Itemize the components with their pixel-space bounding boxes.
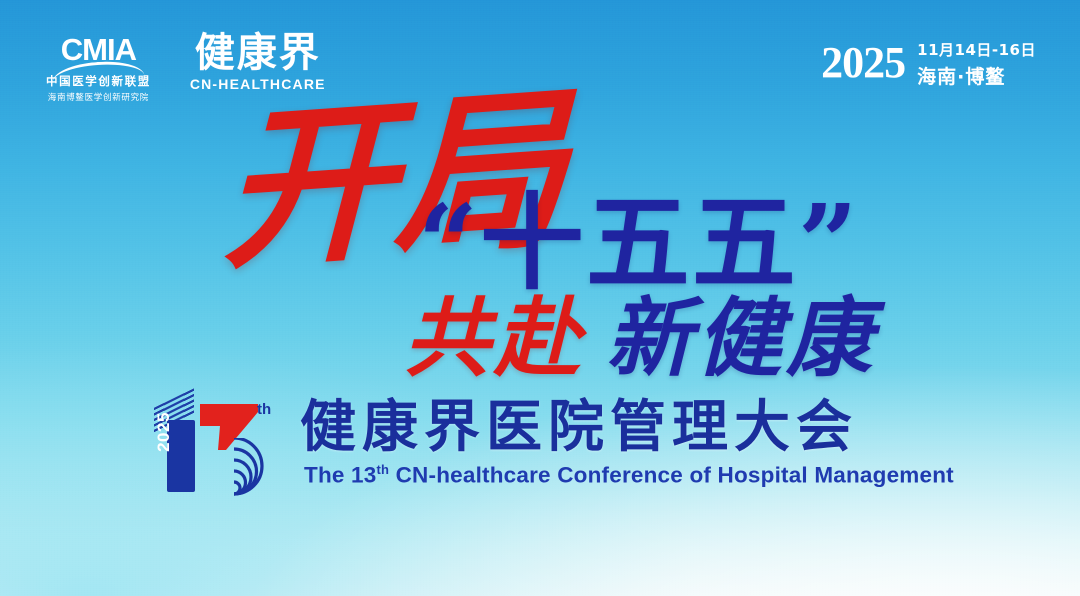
slogan-line2-blue: 新健康: [606, 288, 876, 389]
conference-title-en-ordinal: th: [376, 462, 389, 477]
event-location: 海南·博鳌: [917, 62, 1036, 89]
cmia-subtitle-institute: 海南博鳌医学创新研究院: [48, 91, 149, 103]
slogan-calligraphy: 开局 “十五五” 共赴新健康: [0, 150, 1080, 365]
cmia-swoosh-icon: [52, 62, 144, 70]
event-meta-group: 2025 11月14日-16日 海南·博鳌: [821, 36, 1036, 89]
numeral-three-rings-icon: [196, 438, 272, 496]
cmia-logo: CMIA 中国医学创新联盟 海南博鳌医学创新研究院: [46, 32, 151, 103]
cmia-wordmark: CMIA: [61, 34, 136, 65]
conference-title-en-prefix: The 13: [304, 463, 376, 488]
event-date: 11月14日-16日: [917, 39, 1036, 60]
conference-poster: CMIA 中国医学创新联盟 海南博鳌医学创新研究院 健康界 CN-HEALTHC…: [0, 0, 1080, 596]
event-date-place-stack: 11月14日-16日 海南·博鳌: [917, 36, 1036, 89]
cn-healthcare-name-cn: 健康界: [195, 32, 321, 74]
edition-logo-year: 2025: [154, 399, 174, 465]
logo-divider: [167, 38, 168, 90]
conference-title-lockup: 2025 th 健康界医院管理大会 The 13th CN-healthcare…: [150, 396, 954, 494]
slogan-line2: 共赴新健康: [404, 268, 876, 393]
event-year: 2025: [821, 41, 905, 85]
conference-title-cn: 健康界医院管理大会: [300, 398, 954, 458]
slogan-line2-red: 共赴: [404, 288, 584, 389]
conference-title-en-rest: CN-healthcare Conference of Hospital Man…: [389, 463, 954, 488]
conference-title-column: 健康界医院管理大会 The 13th CN-healthcare Confere…: [300, 396, 954, 489]
edition-13th-logo: 2025 th: [150, 396, 282, 494]
conference-title-en: The 13th CN-healthcare Conference of Hos…: [304, 462, 954, 489]
edition-ordinal-suffix: th: [257, 401, 271, 418]
